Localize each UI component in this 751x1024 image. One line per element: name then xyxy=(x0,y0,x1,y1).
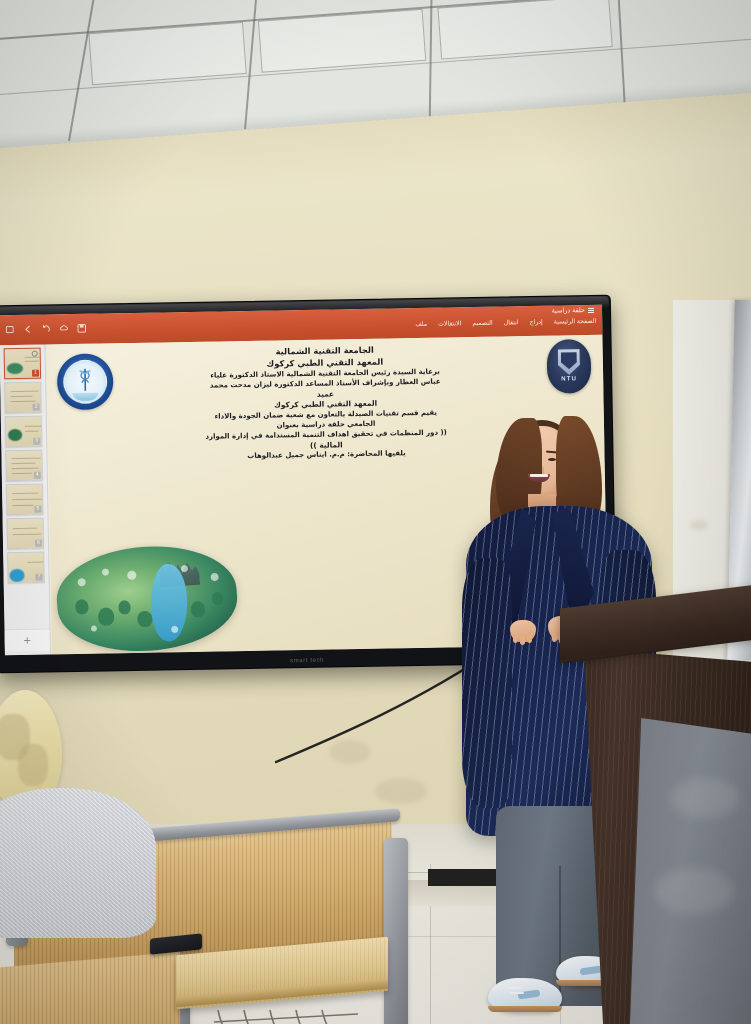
wooden-podium xyxy=(566,596,751,1024)
tab-animations[interactable]: الانتقالات xyxy=(438,320,461,327)
present-icon[interactable] xyxy=(5,325,14,334)
wall-mark xyxy=(690,520,708,530)
slide-thumbnail[interactable]: 6 xyxy=(7,518,45,550)
tab-home[interactable]: الصفحة الرئيسية xyxy=(554,318,597,326)
slide-thumbnail[interactable]: 4 xyxy=(5,450,43,482)
grey-knit-top xyxy=(0,788,156,938)
hamburger-icon[interactable] xyxy=(588,307,594,312)
green-sustainable-earth-illustration xyxy=(54,541,241,655)
slide-thumbnail-panel[interactable]: 1 2 3 xyxy=(0,344,51,655)
app-title-bar: حلقة دراسية xyxy=(551,306,594,315)
hand-left xyxy=(510,620,536,642)
ribbon-tab-strip[interactable]: الصفحة الرئيسية إدراج انتقال التصميم الا… xyxy=(415,318,596,328)
seated-attendee xyxy=(0,690,152,1024)
add-slide-button[interactable]: + xyxy=(4,628,49,651)
cloud-sync-icon[interactable] xyxy=(59,324,68,333)
quick-toolbar[interactable] xyxy=(5,324,86,334)
slide-thumbnail[interactable]: 7 xyxy=(7,552,45,584)
wall-mark xyxy=(375,778,427,804)
wall-mark xyxy=(330,740,370,764)
slide-thumbnail[interactable]: 2 xyxy=(4,382,42,414)
sneaker-left xyxy=(488,978,562,1012)
slide-thumbnail[interactable]: 5 xyxy=(6,484,44,516)
slide-thumbnail[interactable]: 3 xyxy=(5,416,43,448)
slide-number: 4 xyxy=(34,472,41,479)
tab-transition[interactable]: انتقال xyxy=(504,319,519,326)
display-brand-label: smart tech xyxy=(290,658,324,665)
bench-post xyxy=(384,838,408,1024)
tab-design[interactable]: التصميم xyxy=(472,320,493,327)
undo-icon[interactable] xyxy=(41,324,50,333)
app-title-text: حلقة دراسية xyxy=(551,306,585,315)
slide-thumbnail[interactable]: 1 xyxy=(4,348,42,380)
wire-book-basket xyxy=(212,1008,364,1024)
slide-number: 7 xyxy=(36,574,43,581)
slide-number: 3 xyxy=(33,438,40,445)
save-icon[interactable] xyxy=(77,324,86,333)
slide-number: 2 xyxy=(33,404,40,411)
share-icon[interactable] xyxy=(23,325,32,334)
tab-insert[interactable]: إدراج xyxy=(530,319,543,326)
slide-number: 6 xyxy=(35,540,42,547)
lecture-hall-scene: smart tech حلقة دراسية الصفحة الرئيسية إ… xyxy=(0,0,751,1024)
grey-inset-panel xyxy=(630,718,751,1024)
tab-file[interactable]: ملف xyxy=(415,321,427,328)
teeth xyxy=(530,474,548,477)
slide-number: 1 xyxy=(32,370,39,377)
slide-number: 5 xyxy=(34,506,41,513)
blazer-sleeve-left xyxy=(462,558,512,808)
